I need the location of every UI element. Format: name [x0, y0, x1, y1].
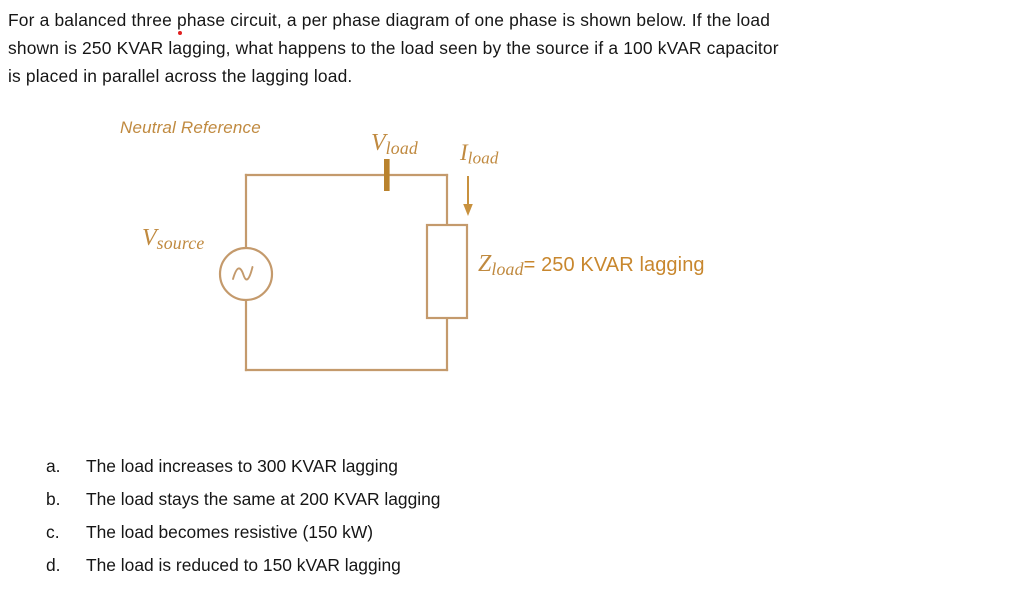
- question-line-1: For a balanced three phase circuit, a pe…: [8, 6, 1016, 34]
- impedance-box-icon: [427, 225, 467, 318]
- answer-option-a-text: The load increases to 300 KVAR lagging: [86, 450, 398, 483]
- answer-option-a[interactable]: a. The load increases to 300 KVAR laggin…: [46, 450, 946, 483]
- answer-option-b-letter: b.: [46, 483, 86, 516]
- i-load-subscript: load: [468, 149, 499, 168]
- z-load-subscript: load: [491, 259, 523, 279]
- answer-option-d[interactable]: d. The load is reduced to 150 kVAR laggi…: [46, 549, 946, 582]
- answer-option-c-letter: c.: [46, 516, 86, 549]
- answer-option-d-letter: d.: [46, 549, 86, 582]
- z-load-label: Zload= 250 KVAR lagging: [478, 251, 705, 280]
- ac-voltage-source-icon: [220, 248, 272, 300]
- answer-option-d-text: The load is reduced to 150 kVAR lagging: [86, 549, 401, 582]
- v-load-subscript: load: [386, 138, 418, 158]
- answer-option-b[interactable]: b. The load stays the same at 200 KVAR l…: [46, 483, 946, 516]
- z-load-symbol: Z: [478, 251, 491, 277]
- per-phase-circuit-diagram: Vload Iload Vsource Zload= 250 KVAR lagg…: [120, 118, 820, 388]
- i-load-symbol: I: [460, 140, 468, 165]
- question-line-2: shown is 250 KVAR lagging, what happens …: [8, 34, 1016, 62]
- v-load-symbol: V: [371, 130, 386, 156]
- current-direction-arrow-icon: [463, 176, 473, 216]
- answer-option-c-text: The load becomes resistive (150 kW): [86, 516, 373, 549]
- spellcheck-dot-icon: [178, 31, 182, 35]
- v-load-label: Vload: [371, 130, 418, 159]
- question-text: For a balanced three phase circuit, a pe…: [8, 6, 1016, 90]
- z-load-value: = 250 KVAR lagging: [524, 254, 705, 276]
- v-source-symbol: V: [142, 225, 157, 251]
- question-line-3: is placed in parallel across the lagging…: [8, 62, 1016, 90]
- answer-option-b-text: The load stays the same at 200 KVAR lagg…: [86, 483, 440, 516]
- v-source-subscript: source: [157, 233, 205, 253]
- answer-options-list: a. The load increases to 300 KVAR laggin…: [46, 450, 946, 582]
- i-load-label: Iload: [460, 140, 499, 169]
- v-source-label: Vsource: [142, 225, 204, 254]
- voltage-marker-icon: [384, 159, 390, 191]
- answer-option-c[interactable]: c. The load becomes resistive (150 kW): [46, 516, 946, 549]
- answer-option-a-letter: a.: [46, 450, 86, 483]
